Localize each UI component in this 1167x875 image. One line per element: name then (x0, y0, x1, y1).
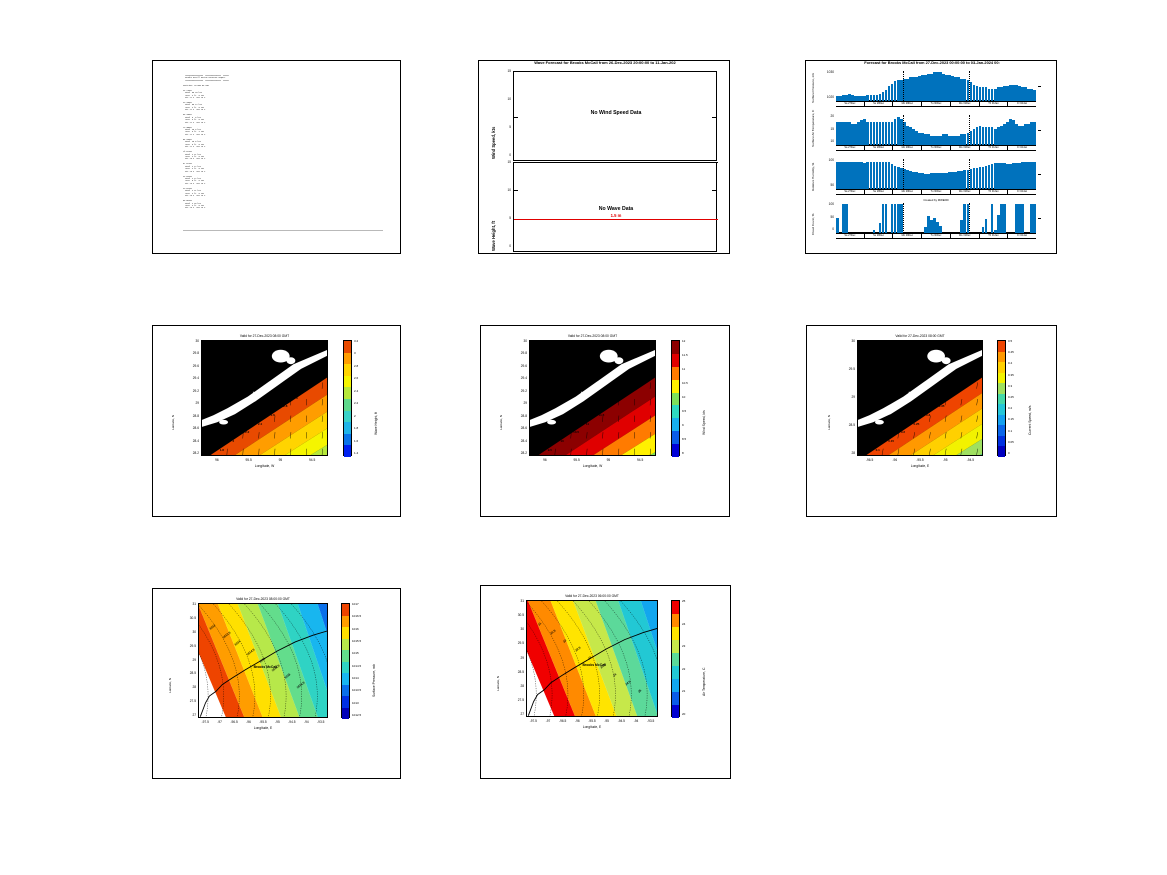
contour-label-4: 0.3 (926, 413, 930, 417)
panel_wind_speed_map-cbtick-0: 12 (682, 339, 685, 343)
panel_wave_height_map-ytick-3: 29.4 (177, 376, 199, 380)
wave-threshold-line (514, 219, 718, 220)
contour-label-1: 10 (560, 439, 563, 443)
bar (1003, 204, 1006, 233)
colorbar-segment-1 (342, 616, 349, 628)
ship-marker: * (908, 391, 910, 395)
air-temp-map-panel: Valid for 27-Dec-2023 06:00:00 GMT2121.5… (480, 585, 731, 779)
panel_pressure_map-map: 10131013.510141014.510151015.510161016.5… (198, 603, 328, 718)
contour-label-2: 10.5 (573, 430, 579, 434)
date-tick-2-3: Tu 30Dec (921, 190, 950, 194)
current-speed-map-panel: Valid for 27-Dec-2023 08:00 GMT0.10.150.… (806, 325, 1057, 517)
panel_wind_speed_map-xtick-3: 94.5 (626, 458, 654, 462)
coastline (527, 601, 658, 717)
panel_air_temp_map-ytick-3: 29.5 (502, 641, 524, 645)
panel_current_speed_map-map: 0.10.150.20.250.30.35*Brooks McCall (857, 340, 983, 456)
colorbar-segment-3 (672, 640, 679, 653)
bar (1033, 162, 1036, 189)
met-ytick-1-0: 20 (812, 114, 834, 118)
bar-series-3 (836, 203, 1036, 233)
panel_wave_height_map-map: 1.822.22.42.62.83*Brooks McCall (201, 340, 328, 456)
colorbar-segment-6 (998, 404, 1005, 415)
colorbar-segment-4 (672, 393, 679, 406)
met-ylabel-3: Cloud Cover, % (811, 214, 815, 236)
panel_pressure_map-ytick-1: 30.5 (174, 616, 196, 620)
panel_current_speed_map-cbtick-1: 0.45 (1008, 350, 1014, 354)
panel_wave_height_map-ytick-8: 28.4 (177, 439, 199, 443)
date-axis-2: Sa 27DecSu 28DecMo 29DecTu 30DecWe 31Dec… (836, 189, 1036, 195)
contour-label-4: 2.6 (271, 413, 275, 417)
date-axis-3: Sa 27DecSu 28DecMo 29DecTu 30DecWe 31Dec… (836, 233, 1036, 239)
contour-label-1: 0.15 (888, 439, 894, 443)
colorbar-segment-9 (342, 708, 349, 720)
ship-marker: * (253, 391, 255, 395)
bar-series-2 (836, 159, 1036, 189)
colorbar-segment-5 (342, 662, 349, 674)
panel_wind_speed_map-xtick-1: 95.5 (563, 458, 591, 462)
date-tick-1-0: Sa 27Dec (836, 146, 864, 150)
panel_pressure_map-ytick-4: 29 (174, 658, 196, 662)
colorbar-segment-0 (342, 604, 349, 616)
bar (845, 204, 848, 233)
colorbar-segment-9 (344, 445, 351, 457)
panel_current_speed_map-colorbar (997, 340, 1006, 456)
wind-ytick-0: 15 (493, 69, 511, 73)
panel_wind_speed_map-cbtick-7: 8.5 (682, 437, 686, 441)
met-ytick-0-1: 1020 (812, 95, 834, 99)
wave-left-tick (514, 190, 518, 191)
date-tick-3-1: Su 28Dec (864, 234, 893, 238)
colorbar-segment-4 (342, 650, 349, 662)
met-right-tick-0 (1038, 86, 1041, 87)
wind-ytick-1: 10 (493, 97, 511, 101)
panel_air_temp_map-xtick-8: -93.5 (637, 719, 665, 723)
panel_wave_height_map-cbtick-3: 2.6 (354, 376, 358, 380)
date-tick-3-0: Sa 27Dec (836, 234, 864, 238)
panel_current_speed_map-xtick-2: -95.5 (906, 458, 934, 462)
wave-right-tick (712, 190, 716, 191)
date-tick-3-5: Th 01Jan (979, 234, 1008, 238)
date-tick-2-6: Fr 02Jan (1007, 190, 1036, 194)
date-tick-0-6: Fr 02Jan (1007, 102, 1036, 106)
panel_wave_height_map-xtick-0: 96 (203, 458, 231, 462)
panel_wind_speed_map-xtick-0: 96 (531, 458, 559, 462)
date-tick-1-1: Su 28Dec (864, 146, 893, 150)
panel_air_temp_map-ytick-1: 30.5 (502, 613, 524, 617)
panel_pressure_map-xtick-8: -93.5 (307, 720, 335, 724)
panel_wind_speed_map-ytick-2: 29.6 (505, 364, 527, 368)
panel_current_speed_map-xtick-3: -95 (931, 458, 959, 462)
colorbar-segment-2 (342, 627, 349, 639)
panel_current_speed_map-title: Valid for 27-Dec-2023 08:00 GMT (857, 334, 983, 338)
colorbar-segment-4 (344, 387, 351, 399)
colorbar-segment-6 (344, 411, 351, 423)
panel_pressure_map-ytick-7: 27.5 (174, 699, 196, 703)
bar (885, 204, 888, 233)
date-tick-1-4: We 31Dec (950, 146, 979, 150)
gridline-2 (969, 159, 970, 189)
colorbar-segment-7 (344, 422, 351, 434)
text-report-panel: ================ ============== ===== Br… (152, 60, 401, 254)
colorbar-segment-1 (672, 614, 679, 627)
panel_air_temp_map-ytick-8: 27 (502, 712, 524, 716)
panel_current_speed_map-xtick-1: -96 (881, 458, 909, 462)
met-right-tick-3 (1038, 218, 1041, 219)
panel_wind_speed_map-ylabel: Latitude, N (499, 416, 503, 431)
panel_pressure_map-ylabel: Latitude, N (168, 678, 172, 693)
colorbar-segment-7 (672, 431, 679, 444)
gridline-2 (969, 71, 970, 101)
contour-label-2: 0.2 (901, 430, 905, 434)
panel_wave_height_map-xtick-1: 95.5 (235, 458, 263, 462)
date-tick-1-3: Tu 30Dec (921, 146, 950, 150)
panel_pressure_map-cbtick-6: 1014 (352, 676, 359, 680)
met-subplot-0 (836, 71, 1036, 101)
panel_pressure_map-cbtick-8: 1013 (352, 701, 359, 705)
panel_wave_height_map-colorbar (343, 340, 352, 456)
panel_current_speed_map-cbtick-0: 0.5 (1008, 339, 1012, 343)
panel_wind_speed_map-ytick-4: 29.2 (505, 389, 527, 393)
wind-speed-axes: No Wind Speed Data (513, 71, 717, 161)
met-right-tick-1 (1038, 130, 1041, 131)
colorbar-segment-5 (672, 666, 679, 679)
contour-label-5: 0.35 (939, 404, 945, 408)
panel_wave_height_map-cbtick-2: 2.8 (354, 364, 358, 368)
colorbar-segment-5 (672, 405, 679, 418)
ship-label: Brooks McCall (254, 665, 278, 669)
panel_pressure_map-cbtick-4: 1015 (352, 651, 359, 655)
panel_air_temp_map-xlabel: Longitude, E (526, 725, 658, 729)
ship-label: Brooks McCall (582, 663, 606, 667)
met-ylabel-2: Relative Humidity, % (811, 163, 815, 191)
wave-threshold-label: 1.5 m (514, 213, 718, 218)
date-tick-1-5: Th 01Jan (979, 146, 1008, 150)
date-tick-3-2: Mo 29Dec (892, 234, 921, 238)
panel_wave_height_map-title: Valid for 27-Dec-2023 08:00 GMT (201, 334, 328, 338)
panel_wave_height_map-cbtick-9: 1.4 (354, 451, 358, 455)
gridline-2 (969, 203, 970, 233)
panel_air_temp_map-ytick-0: 31 (502, 599, 524, 603)
panel_wave_height_map-xlabel: Longitude, W (201, 464, 328, 468)
panel_pressure_map-colorbar-label: Surface Pressure, mb (372, 665, 376, 698)
date-axis-0: Sa 27DecSu 28DecMo 29DecTu 30DecWe 31Dec… (836, 101, 1036, 107)
met-subplot-1 (836, 115, 1036, 145)
panel_wind_speed_map-cbtick-4: 10 (682, 395, 685, 399)
panel_wave_height_map-ytick-2: 29.6 (177, 364, 199, 368)
panel_pressure_map-cbtick-1: 1016.5 (352, 614, 361, 618)
panel_air_temp_map-title: Valid for 27-Dec-2023 06:00:00 GMT (526, 594, 658, 598)
contour-label-5: 2.8 (283, 404, 287, 408)
panel_air_temp_map-cbtick-3: 22 (682, 667, 685, 671)
colorbar-segment-4 (998, 383, 1005, 394)
met-ytick-1-2: 10 (812, 139, 834, 143)
bar-series-0 (836, 71, 1036, 101)
panel_pressure_map-cbtick-9: 1012.5 (352, 713, 361, 717)
colorbar-segment-5 (344, 399, 351, 411)
panel_wave_height_map-ytick-5: 29 (177, 401, 199, 405)
panel_current_speed_map-xtick-4: -94.5 (956, 458, 984, 462)
colorbar-segment-0 (344, 341, 351, 353)
bar (1033, 122, 1036, 145)
panel_wind_speed_map-xtick-2: 95 (594, 458, 622, 462)
panel_wind_speed_map-cbtick-5: 9.5 (682, 409, 686, 413)
panel_pressure_map-colorbar (341, 603, 350, 718)
date-tick-2-1: Su 28Dec (864, 190, 893, 194)
date-tick-2-0: Sa 27Dec (836, 190, 864, 194)
panel_air_temp_map-cbtick-0: 25 (682, 599, 685, 603)
colorbar-segment-9 (998, 436, 1005, 447)
panel_current_speed_map-cbtick-9: 0.05 (1008, 440, 1014, 444)
colorbar-segment-8 (672, 444, 679, 457)
wave-forecast-panel: Wave Forecast for Brooks McCall from 26-… (478, 60, 730, 254)
no-wind-data-message: No Wind Speed Data (514, 110, 718, 116)
wave-forecast-title: Wave Forecast for Brooks McCall from 26-… (479, 60, 730, 65)
colorbar-segment-7 (342, 685, 349, 697)
panel_air_temp_map-ylabel: Latitude, N (496, 676, 500, 691)
panel_current_speed_map-cbtick-7: 0.15 (1008, 417, 1014, 421)
colorbar-segment-1 (998, 352, 1005, 363)
panel_wind_speed_map-ytick-0: 30 (505, 339, 527, 343)
contour-label-0: 9.5 (548, 448, 552, 452)
panel_air_temp_map-ytick-5: 28.5 (502, 670, 524, 674)
colorbar-segment-3 (998, 373, 1005, 384)
panel_wave_height_map-ylabel: Latitude, N (171, 416, 175, 431)
colorbar-segment-3 (342, 639, 349, 651)
colorbar-segment-8 (342, 696, 349, 708)
panel_current_speed_map-cbtick-5: 0.25 (1008, 395, 1014, 399)
date-tick-2-2: Mo 29Dec (892, 190, 921, 194)
panel_current_speed_map-xlabel: Longitude, E (857, 464, 983, 468)
contour-label-2: 2.2 (245, 430, 249, 434)
panel_wind_speed_map-ytick-9: 28.2 (505, 451, 527, 455)
panel_pressure_map-cbtick-7: 1013.5 (352, 688, 361, 692)
colorbar-segment-10 (998, 446, 1005, 457)
wind-ytick-2: 5 (493, 125, 511, 129)
marine-forecast-text: ================ ============== ===== Br… (183, 75, 388, 210)
panel_wave_height_map-colorbar-label: Wave Height, ft (374, 412, 378, 435)
colorbar-segment-0 (998, 341, 1005, 352)
bar (939, 226, 942, 233)
panel_wind_speed_map-ytick-7: 28.6 (505, 426, 527, 430)
panel_wind_speed_map-cbtick-1: 11.5 (682, 353, 688, 357)
date-tick-3-3: Tu 30Dec (921, 234, 950, 238)
wave-top-line (514, 162, 718, 163)
colorbar-segment-0 (672, 601, 679, 614)
met-ytick-3-0: 100 (812, 202, 834, 206)
report-divider (183, 230, 383, 231)
panel_wave_height_map-cbtick-6: 2 (354, 414, 356, 418)
panel_pressure_map-ytick-2: 30 (174, 630, 196, 634)
panel_wave_height_map-xtick-2: 95 (266, 458, 294, 462)
colorbar-segment-3 (672, 380, 679, 393)
colorbar-segment-0 (672, 341, 679, 354)
wave-ytick-0: 15 (493, 160, 511, 164)
met-ytick-0-0: 1030 (812, 70, 834, 74)
date-tick-0-3: Tu 30Dec (921, 102, 950, 106)
colorbar-segment-8 (672, 705, 679, 718)
wind-ytick-3: 0 (493, 153, 511, 157)
panel_current_speed_map-cbtick-2: 0.4 (1008, 361, 1012, 365)
bar (1033, 204, 1036, 233)
bar (991, 204, 994, 233)
wave-ytick-2: 5 (493, 216, 511, 220)
panel_wave_height_map-ytick-7: 28.6 (177, 426, 199, 430)
met-right-tick-2 (1038, 174, 1041, 175)
date-tick-0-2: Mo 29Dec (892, 102, 921, 106)
bar (1021, 204, 1024, 233)
panel_air_temp_map-colorbar-label: Air Temperature, C (702, 668, 706, 696)
contour-label-1: 2 (232, 439, 234, 443)
panel_pressure_map-ytick-6: 28 (174, 685, 196, 689)
panel_current_speed_map-ytick-4: 28 (833, 451, 855, 455)
wind-right-tick (712, 117, 716, 118)
gridline-2 (969, 115, 970, 145)
panel_pressure_map-ytick-5: 28.5 (174, 671, 196, 675)
panel_current_speed_map-cbtick-3: 0.35 (1008, 373, 1014, 377)
panel_pressure_map-ytick-3: 29.5 (174, 644, 196, 648)
panel_wave_height_map-cbtick-1: 3 (354, 351, 356, 355)
ship-marker: * (581, 391, 583, 395)
colorbar-segment-2 (344, 364, 351, 376)
contour-label-3: 11 (586, 422, 589, 426)
panel_current_speed_map-ylabel: Latitude, N (827, 416, 831, 431)
ship-label: Brooks McCall (258, 399, 279, 403)
colorbar-segment-7 (672, 692, 679, 705)
wind-left-tick (514, 117, 518, 118)
date-tick-1-6: Fr 02Jan (1007, 146, 1036, 150)
panel_wave_height_map-ytick-4: 29.2 (177, 389, 199, 393)
met-ytick-2-1: 50 (812, 183, 834, 187)
panel_air_temp_map-ytick-4: 29 (502, 656, 524, 660)
panel_air_temp_map-cbtick-1: 24 (682, 622, 685, 626)
panel_wind_speed_map-cbtick-2: 11 (682, 367, 685, 371)
ship-label: Brooks McCall (913, 399, 934, 403)
colorbar-segment-8 (344, 434, 351, 446)
panel_pressure_map-cbtick-3: 1015.5 (352, 639, 361, 643)
panel_wave_height_map-cbtick-5: 2.2 (354, 401, 358, 405)
panel_current_speed_map-ytick-2: 29 (833, 395, 855, 399)
wave-height-axes: No Wave Data 1.5 m (513, 162, 717, 252)
panel_wind_speed_map-ytick-8: 28.4 (505, 439, 527, 443)
date-tick-2-5: Th 01Jan (979, 190, 1008, 194)
panel_pressure_map-xlabel: Longitude, E (198, 726, 328, 730)
gridline-1 (903, 71, 904, 101)
met-forecast-panel: Forecast for Brooks McCall from 27-Dec-2… (805, 60, 1057, 254)
bar (985, 219, 988, 233)
panel_wave_height_map-cbtick-8: 1.6 (354, 439, 358, 443)
panel_air_temp_map-ytick-6: 28 (502, 684, 524, 688)
colorbar-segment-2 (998, 362, 1005, 373)
panel_wave_height_map-cbtick-7: 1.8 (354, 426, 358, 430)
colorbar-segment-6 (672, 679, 679, 692)
wave-height-map-panel: Valid for 27-Dec-2023 08:00 GMT1.822.22.… (152, 325, 401, 517)
panel_air_temp_map-colorbar (671, 600, 680, 717)
colorbar-segment-8 (998, 425, 1005, 436)
panel_pressure_map-ytick-0: 31 (174, 602, 196, 606)
panel_current_speed_map-cbtick-10: 0 (1008, 451, 1010, 455)
colorbar-segment-3 (344, 376, 351, 388)
bar (1033, 90, 1036, 101)
contour-label-0: 1.8 (220, 448, 224, 452)
panel_wave_height_map-xtick-3: 94.5 (298, 458, 326, 462)
met-ylabel-1: Surface Air Temperature, C (811, 110, 815, 147)
panel_wind_speed_map-map: 9.51010.51111.5*Brooks McCall (529, 340, 656, 456)
panel_air_temp_map-ytick-2: 30 (502, 627, 524, 631)
met-subplot-2 (836, 159, 1036, 189)
panel_wave_height_map-ytick-1: 29.8 (177, 351, 199, 355)
panel_wave_height_map-cbtick-4: 2.4 (354, 389, 358, 393)
panel_wave_height_map-cbtick-0: 3.2 (354, 339, 358, 343)
panel_current_speed_map-cbtick-4: 0.3 (1008, 384, 1012, 388)
met-ytick-3-2: 0 (812, 227, 834, 231)
date-tick-0-0: Sa 27Dec (836, 102, 864, 106)
panel_air_temp_map-cbtick-2: 23 (682, 644, 685, 648)
date-tick-1-2: Mo 29Dec (892, 146, 921, 150)
met-ylabel-0: Surface Pressure, mb (811, 73, 815, 103)
panel_wind_speed_map-cbtick-6: 9 (682, 423, 684, 427)
panel_current_speed_map-cbtick-8: 0.1 (1008, 429, 1012, 433)
gridline-1 (903, 159, 904, 189)
met-forecast-title: Forecast for Brooks McCall from 27-Dec-2… (806, 60, 1057, 65)
contour-label-6: 3 (296, 396, 298, 400)
ship-label: Brooks McCall (586, 399, 607, 403)
panel_wind_speed_map-title: Valid for 27-Dec-2023 08:00 GMT (529, 334, 656, 338)
panel_pressure_map-title: Valid for 27-Dec-2023 08:00:00 GMT (198, 597, 328, 601)
date-tick-3-4: We 31Dec (950, 234, 979, 238)
panel_wind_speed_map-ytick-1: 29.8 (505, 351, 527, 355)
colorbar-segment-6 (672, 418, 679, 431)
panel_wind_speed_map-ytick-3: 29.4 (505, 376, 527, 380)
panel_wind_speed_map-colorbar (671, 340, 680, 456)
panel_current_speed_map-colorbar-label: Current Speed, m/s (1028, 406, 1032, 435)
colorbar-segment-6 (342, 673, 349, 685)
bar (836, 218, 839, 233)
panel_air_temp_map-ytick-7: 27.5 (502, 698, 524, 702)
met-ytick-2-0: 100 (812, 158, 834, 162)
met-subplot-3 (836, 203, 1036, 233)
wave-ytick-1: 10 (493, 188, 511, 192)
met-ytick-1-1: 15 (812, 127, 834, 131)
contour-label-3: 0.25 (913, 422, 919, 426)
panel_current_speed_map-ytick-3: 28.5 (833, 423, 855, 427)
panel_current_speed_map-cbtick-6: 0.2 (1008, 406, 1012, 410)
colorbar-segment-7 (998, 415, 1005, 426)
panel_wind_speed_map-ytick-5: 29 (505, 401, 527, 405)
panel_pressure_map-cbtick-2: 1016 (352, 627, 359, 631)
panel_wave_height_map-ytick-6: 28.8 (177, 414, 199, 418)
met-annotation: Created by MWEDD (836, 198, 1036, 202)
date-tick-0-1: Su 28Dec (864, 102, 893, 106)
wind-speed-map-panel: Valid for 27-Dec-2023 08:00 GMT9.51010.5… (480, 325, 730, 517)
colorbar-segment-1 (672, 354, 679, 367)
panel_current_speed_map-ytick-0: 30 (833, 339, 855, 343)
date-tick-2-4: We 31Dec (950, 190, 979, 194)
panel_pressure_map-ytick-8: 27 (174, 713, 196, 717)
panel_wave_height_map-ytick-0: 30 (177, 339, 199, 343)
panel_wind_speed_map-colorbar-label: Wind Speed, kts (702, 410, 706, 435)
panel_wave_height_map-ytick-9: 28.2 (177, 451, 199, 455)
gridline-1 (903, 115, 904, 145)
panel_wind_speed_map-ytick-6: 28.8 (505, 414, 527, 418)
panel_air_temp_map-map: 2121.52222.52323.52424.525Brooks McCall (526, 600, 658, 717)
date-tick-0-4: We 31Dec (950, 102, 979, 106)
met-ytick-3-1: 50 (812, 215, 834, 219)
colorbar-segment-1 (344, 353, 351, 365)
panel_pressure_map-cbtick-0: 1017 (352, 602, 359, 606)
panel_pressure_map-cbtick-5: 1014.5 (352, 664, 361, 668)
contour-label-3: 2.4 (258, 422, 262, 426)
panel_current_speed_map-ytick-1: 29.5 (833, 367, 855, 371)
